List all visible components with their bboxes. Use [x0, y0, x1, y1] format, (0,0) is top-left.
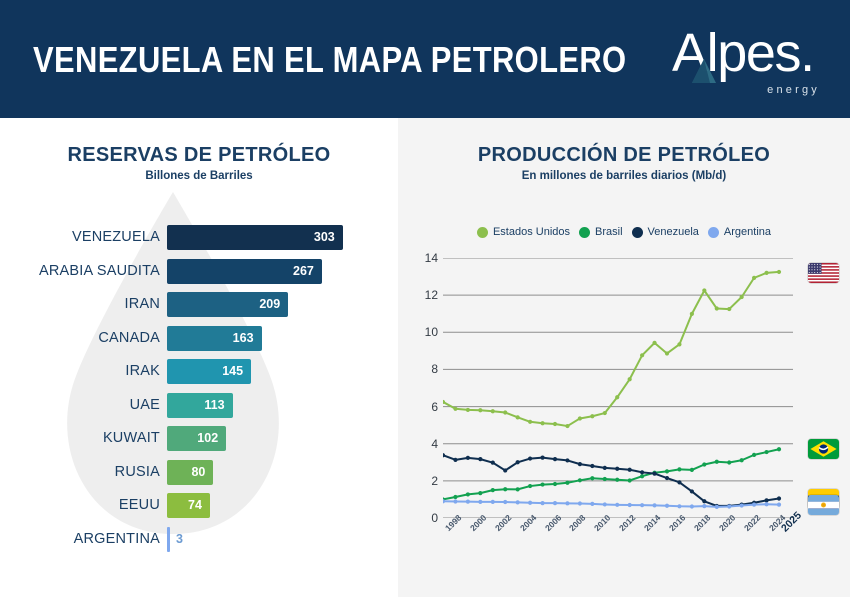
data-point	[764, 271, 768, 275]
reserves-subtitle: Billones de Barriles	[0, 170, 398, 182]
legend-item[interactable]: Brasil	[579, 226, 623, 238]
production-subtitle: En millones de barriles diarios (Mb/d)	[398, 170, 850, 182]
data-point	[603, 502, 607, 506]
reserves-bar-row: ARABIA SAUDITA267	[0, 256, 398, 286]
data-point	[615, 395, 619, 399]
data-point	[628, 478, 632, 482]
data-point	[516, 460, 520, 464]
data-point	[590, 502, 594, 506]
data-point	[628, 468, 632, 472]
reserves-bar-label: CANADA	[0, 323, 160, 353]
data-point	[553, 501, 557, 505]
data-point	[553, 422, 557, 426]
data-point	[640, 503, 644, 507]
data-point	[615, 478, 619, 482]
legend-dot-argentina	[708, 227, 719, 238]
y-axis-tick: 0	[410, 511, 438, 525]
legend-item[interactable]: Estados Unidos	[477, 226, 570, 238]
y-axis-tick: 6	[410, 400, 438, 414]
data-point	[453, 499, 457, 503]
legend-label: Argentina	[724, 226, 771, 238]
data-point	[640, 474, 644, 478]
data-point	[652, 503, 656, 507]
country-flag-markers	[804, 258, 848, 518]
production-title: PRODUCCIÓN DE PETRÓLEO	[398, 144, 850, 167]
reserves-bar-label: UAE	[0, 390, 160, 420]
data-point	[740, 503, 744, 507]
reserves-bar-value: 145	[219, 359, 243, 384]
data-point	[665, 351, 669, 355]
data-point	[690, 489, 694, 493]
legend-item[interactable]: Venezuela	[632, 226, 699, 238]
data-point	[677, 467, 681, 471]
data-point	[727, 307, 731, 311]
data-point	[677, 480, 681, 484]
reserves-bar-label: EEUU	[0, 490, 160, 520]
data-point	[578, 501, 582, 505]
reserves-bar-row: CANADA163	[0, 323, 398, 353]
header-banner: VENEZUELA EN EL MAPA PETROLERO Alpes. en…	[0, 0, 850, 118]
data-point	[528, 456, 532, 460]
data-point	[715, 306, 719, 310]
reserves-bar-track: 74	[167, 493, 370, 518]
data-point	[777, 270, 781, 274]
reserves-bar-row: VENEZUELA303	[0, 222, 398, 252]
data-point	[603, 411, 607, 415]
production-legend: Estados UnidosBrasilVenezuelaArgentina	[398, 226, 850, 238]
data-point	[503, 468, 507, 472]
reserves-bar-track: 163	[167, 326, 370, 351]
reserves-bar-track: 145	[167, 359, 370, 384]
legend-item[interactable]: Argentina	[708, 226, 771, 238]
data-point	[491, 500, 495, 504]
reserves-bar-row: UAE113	[0, 390, 398, 420]
reserves-bar-track: 102	[167, 426, 370, 451]
data-point	[677, 342, 681, 346]
data-point	[478, 491, 482, 495]
data-point	[516, 500, 520, 504]
data-point	[702, 462, 706, 466]
reserves-bar-track: 80	[167, 460, 370, 485]
data-point	[690, 312, 694, 316]
data-point	[466, 408, 470, 412]
reserves-bar-row: KUWAIT102	[0, 423, 398, 453]
production-x-axis: 1998200020022004200620082010201220142016…	[443, 520, 793, 580]
data-point	[590, 414, 594, 418]
flag-argentina-icon	[808, 495, 839, 515]
data-point	[752, 276, 756, 280]
data-point	[540, 482, 544, 486]
reserves-bar-label: ARGENTINA	[0, 524, 160, 554]
reserves-bar-value: 74	[178, 493, 202, 518]
data-point	[466, 492, 470, 496]
reserves-bar-row: IRAK145	[0, 356, 398, 386]
data-point	[503, 487, 507, 491]
data-point	[652, 472, 656, 476]
reserves-bar-value: 209	[256, 292, 280, 317]
data-point	[752, 503, 756, 507]
data-point	[491, 461, 495, 465]
data-point	[478, 457, 482, 461]
data-point	[516, 415, 520, 419]
data-point	[628, 503, 632, 507]
reserves-bar-value: 303	[311, 225, 335, 250]
data-point	[715, 460, 719, 464]
reserves-bar-label: VENEZUELA	[0, 222, 160, 252]
production-y-axis: 02468101214	[410, 258, 438, 518]
data-point	[764, 450, 768, 454]
y-axis-tick: 10	[410, 325, 438, 339]
data-point	[665, 504, 669, 508]
reserves-bar-chart: VENEZUELA303ARABIA SAUDITA267IRAN209CANA…	[0, 222, 398, 522]
reserves-bar-label: KUWAIT	[0, 423, 160, 453]
mountain-icon	[691, 58, 717, 84]
flag-brasil-icon	[808, 439, 839, 459]
data-point	[540, 501, 544, 505]
flag-usa-icon	[808, 263, 839, 283]
data-point	[702, 288, 706, 292]
data-point	[777, 447, 781, 451]
data-point	[715, 505, 719, 509]
data-point	[603, 466, 607, 470]
data-point	[478, 500, 482, 504]
data-point	[652, 341, 656, 345]
reserves-bar-value: 267	[290, 259, 314, 284]
reserves-bar-label: IRAK	[0, 356, 160, 386]
data-point	[565, 501, 569, 505]
data-point	[690, 504, 694, 508]
data-point	[764, 498, 768, 502]
data-point	[740, 295, 744, 299]
data-point	[466, 456, 470, 460]
data-point	[727, 504, 731, 508]
data-point	[628, 377, 632, 381]
data-point	[491, 488, 495, 492]
data-point	[615, 467, 619, 471]
reserves-bar-row: ARGENTINA3	[0, 524, 398, 554]
data-point	[528, 484, 532, 488]
data-point	[677, 504, 681, 508]
reserves-bar-track: 267	[167, 259, 370, 284]
data-point	[603, 477, 607, 481]
data-point	[690, 468, 694, 472]
data-point	[752, 453, 756, 457]
data-point	[665, 476, 669, 480]
reserves-bar-value: 113	[201, 393, 225, 418]
data-point	[590, 464, 594, 468]
reserves-bar-fill	[167, 527, 170, 552]
infographic-root: VENEZUELA EN EL MAPA PETROLERO Alpes. en…	[0, 0, 850, 597]
production-panel: PRODUCCIÓN DE PETRÓLEO En millones de ba…	[398, 118, 850, 597]
data-point	[777, 503, 781, 507]
data-point	[453, 458, 457, 462]
data-point	[764, 502, 768, 506]
data-point	[453, 407, 457, 411]
reserves-panel: RESERVAS DE PETRÓLEO Billones de Barrile…	[0, 118, 398, 597]
reserves-bar-track: 303	[167, 225, 370, 250]
data-point	[565, 481, 569, 485]
data-point	[466, 500, 470, 504]
data-point	[478, 408, 482, 412]
data-point	[702, 499, 706, 503]
data-point	[528, 420, 532, 424]
data-point	[491, 409, 495, 413]
legend-label: Brasil	[595, 226, 623, 238]
reserves-title: RESERVAS DE PETRÓLEO	[0, 144, 398, 167]
data-point	[540, 456, 544, 460]
data-point	[516, 487, 520, 491]
legend-dot-venezuela	[632, 227, 643, 238]
data-point	[702, 504, 706, 508]
page-title: VENEZUELA EN EL MAPA PETROLERO	[33, 39, 626, 81]
alpes-energy-logo: Alpes. energy	[672, 28, 824, 100]
reserves-bar-label: RUSIA	[0, 457, 160, 487]
y-axis-tick: 2	[410, 474, 438, 488]
data-point	[528, 501, 532, 505]
y-axis-tick: 14	[410, 251, 438, 265]
reserves-bar-value: 3	[176, 527, 183, 552]
production-line-chart: 02468101214 1998200020022004200620082010…	[398, 258, 850, 597]
reserves-bar-value: 163	[230, 326, 254, 351]
reserves-bar-value: 80	[181, 460, 205, 485]
data-point	[553, 482, 557, 486]
data-point	[578, 478, 582, 482]
reserves-bar-track: 3	[167, 527, 370, 552]
data-point	[453, 495, 457, 499]
reserves-bar-track: 209	[167, 292, 370, 317]
legend-label: Venezuela	[648, 226, 699, 238]
data-point	[565, 458, 569, 462]
data-point	[565, 424, 569, 428]
data-point	[590, 476, 594, 480]
data-point	[615, 503, 619, 507]
production-plot-area	[443, 258, 793, 518]
reserves-bar-value: 102	[194, 426, 218, 451]
data-point	[578, 462, 582, 466]
reserves-bar-label: ARABIA SAUDITA	[0, 256, 160, 286]
reserves-bar-row: EEUU74	[0, 490, 398, 520]
reserves-bar-row: IRAN209	[0, 289, 398, 319]
reserves-bar-row: RUSIA80	[0, 457, 398, 487]
y-axis-tick: 4	[410, 437, 438, 451]
legend-label: Estados Unidos	[493, 226, 570, 238]
data-point	[503, 410, 507, 414]
data-point	[503, 500, 507, 504]
data-point	[777, 496, 781, 500]
legend-dot-brasil	[579, 227, 590, 238]
y-axis-tick: 12	[410, 288, 438, 302]
data-point	[578, 416, 582, 420]
logo-tagline: energy	[767, 84, 820, 96]
reserves-bar-label: IRAN	[0, 289, 160, 319]
reserves-bar-track: 113	[167, 393, 370, 418]
data-point	[640, 470, 644, 474]
data-point	[553, 457, 557, 461]
legend-dot-estados-unidos	[477, 227, 488, 238]
data-point	[665, 469, 669, 473]
data-point	[727, 460, 731, 464]
data-point	[540, 421, 544, 425]
data-point	[740, 458, 744, 462]
data-point	[640, 353, 644, 357]
y-axis-tick: 8	[410, 362, 438, 376]
